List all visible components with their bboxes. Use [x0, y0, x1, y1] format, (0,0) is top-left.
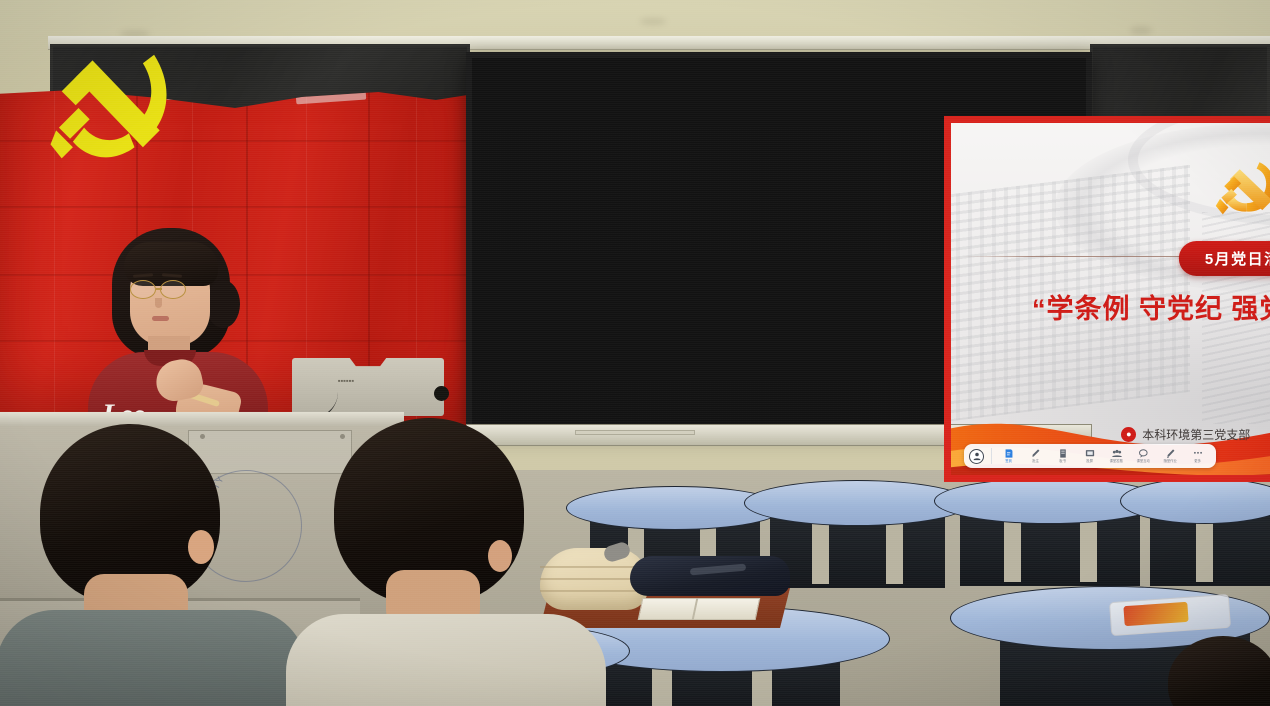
- slide-meta-row: ● 本科环境第三党支部 ■ 日期：2024.5.16: [944, 426, 1270, 443]
- table-leg-gap: [1004, 522, 1021, 582]
- presenter-hair-bun: [206, 280, 240, 328]
- microphone-head: [434, 386, 449, 401]
- classroom-photo-scene: wic: [0, 0, 1270, 706]
- slide-title-quoted: “学条例 守党纪 强党性”: [1032, 294, 1270, 324]
- toolbar-label: 课堂互动: [1137, 461, 1150, 464]
- screen-cast-icon: [1084, 448, 1096, 459]
- slide-title: “学条例 守党纪 强党性”读书交流会: [944, 287, 1270, 326]
- student-shirt: [286, 614, 606, 706]
- cpc-hammer-sickle-emblem: [1215, 158, 1270, 220]
- student-ear: [488, 540, 512, 572]
- student-foreground-right: [1168, 636, 1270, 706]
- eyeglasses-bridge: [156, 288, 162, 290]
- table-leg-gap: [812, 524, 829, 584]
- eyeglasses-lens-left: [130, 280, 156, 299]
- toolbar-label: 随堂作业: [1164, 461, 1177, 464]
- toolbar-separator: [991, 448, 992, 464]
- open-notebook: [638, 598, 761, 620]
- table-leg-gap: [1080, 522, 1097, 582]
- presenter-mouth: [152, 316, 169, 321]
- toolbar-item-annotate[interactable]: 批注: [1022, 447, 1049, 465]
- student-shirt: [0, 610, 306, 706]
- toolbar-label: 课堂答题: [1110, 461, 1123, 464]
- student-foreground-center: [308, 418, 588, 706]
- toolbar-label: 签到: [1005, 461, 1012, 464]
- whiteboard-icon: [1057, 448, 1069, 459]
- classroom-toolbar[interactable]: 签到 批注 板书 投屏 课堂答题: [964, 444, 1216, 468]
- eyeglasses-lens-right: [160, 280, 186, 299]
- presenter-speaking: Lee: [60, 228, 280, 428]
- toolbar-item-interaction[interactable]: 课堂互动: [1130, 447, 1157, 465]
- slide-org: ● 本科环境第三党支部: [1121, 426, 1250, 443]
- table-leg-gap: [886, 524, 903, 584]
- toolbar-label: 板书: [1059, 461, 1066, 464]
- presenter-nose: [155, 298, 162, 308]
- more-dots-icon: [1192, 448, 1204, 459]
- toolbar-label: 投屏: [1086, 461, 1093, 464]
- toolbar-item-quiz[interactable]: 课堂答题: [1103, 447, 1130, 465]
- slide-event-badge: 5月党日活动: [1179, 241, 1270, 276]
- toolbar-item-more[interactable]: 更多: [1184, 447, 1211, 465]
- toolbar-label: 更多: [1194, 461, 1201, 464]
- user-avatar-icon[interactable]: [969, 449, 984, 464]
- toolbar-item-screencast[interactable]: 投屏: [1076, 447, 1103, 465]
- toolbar-item-checkin[interactable]: 签到: [995, 447, 1022, 465]
- table-leg-gap: [1196, 522, 1213, 582]
- student-head: [1168, 636, 1270, 706]
- slide-org-label: 本科环境第三党支部: [1142, 426, 1250, 443]
- navy-jacket: [630, 556, 790, 596]
- toolbar-label: 批注: [1032, 461, 1039, 464]
- student-foreground-left: [10, 424, 300, 706]
- toolbar-item-homework[interactable]: 随堂作业: [1157, 447, 1184, 465]
- toolbar-item-whiteboard[interactable]: 板书: [1049, 447, 1076, 465]
- quiz-icon: [1111, 448, 1123, 459]
- pen-annotate-icon: [1030, 448, 1042, 459]
- interaction-icon: [1138, 448, 1150, 459]
- person-icon: ●: [1121, 427, 1136, 442]
- student-ear: [188, 530, 214, 564]
- round-discussion-table: [1120, 478, 1270, 524]
- homework-icon: [1165, 448, 1177, 459]
- checkin-icon: [1003, 448, 1015, 459]
- gray-box-text: ■■■■■■: [338, 378, 354, 383]
